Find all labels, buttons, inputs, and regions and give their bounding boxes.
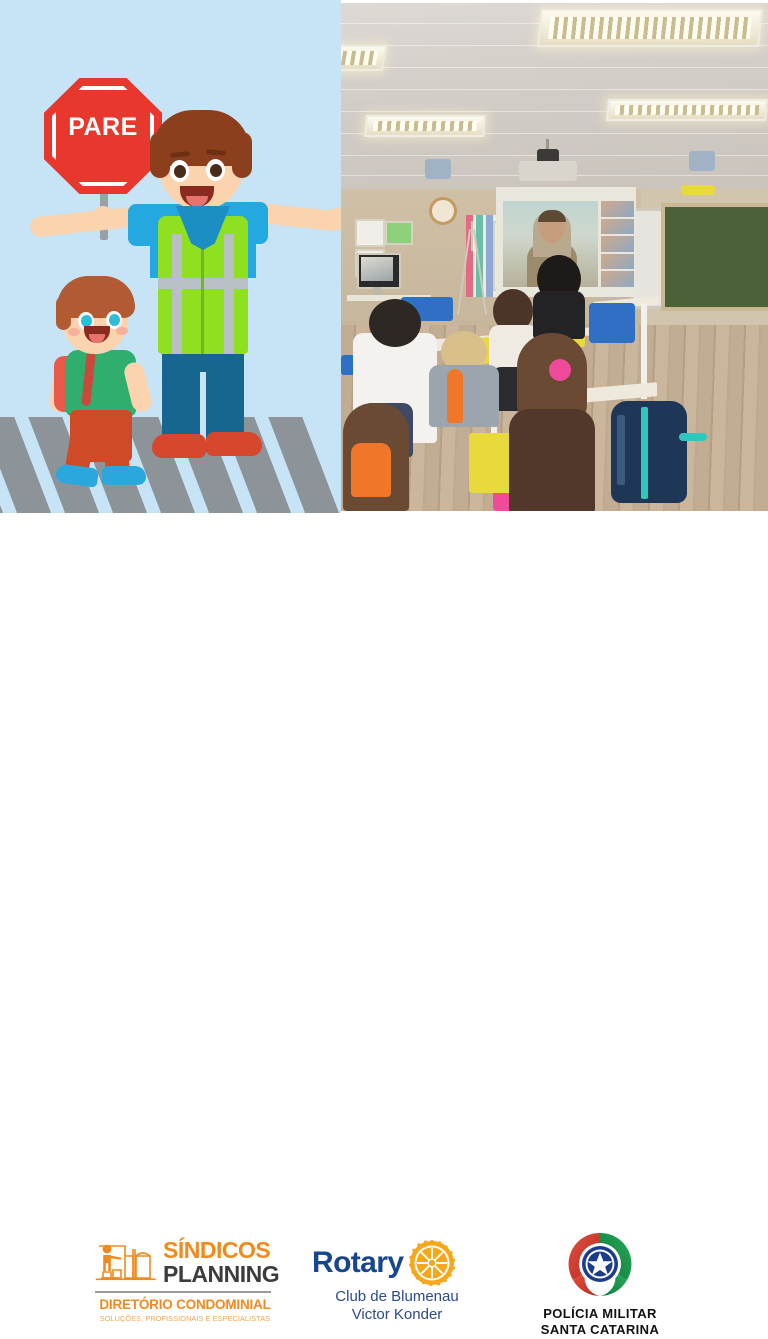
backpack-strap: [679, 433, 707, 441]
media-band: PARE: [0, 0, 768, 513]
guard-pupil-right: [210, 164, 222, 177]
pmsc-line-2: SANTA CATARINA: [530, 1322, 670, 1338]
student-vest-6: [351, 443, 391, 497]
thumbnail: [601, 254, 634, 270]
rotary-wordmark: Rotary: [312, 1246, 403, 1280]
sindicos-line-1: SÍNDICOS: [163, 1239, 279, 1262]
partner-logo-strip: SÍNDICOS PLANNING DIRETÓRIO CONDOMINIAL …: [0, 600, 768, 740]
vest-reflective-stripe-left: [172, 234, 182, 354]
guard-left-hand: [92, 206, 114, 228]
student-vest-stripe-4: [447, 369, 463, 423]
sindicos-planning-logo[interactable]: SÍNDICOS PLANNING DIRETÓRIO CONDOMINIAL …: [95, 1236, 275, 1323]
classroom-photograph: [341, 3, 768, 511]
ceiling-light-top-right: [537, 9, 763, 47]
sindicos-line-4: SOLUÇÕES, PROFISSIONAIS E ESPECIALISTAS: [95, 1314, 275, 1323]
pmsc-badge-icon: [561, 1228, 639, 1302]
student-hair-5: [509, 409, 595, 511]
child-cheek-right: [116, 327, 128, 335]
thumbnail: [601, 236, 634, 252]
page-root: PARE: [0, 0, 768, 768]
rotary-sub-line-2: Victor Konder: [312, 1306, 482, 1324]
vest-zipper: [201, 232, 204, 354]
child-right-shoe: [102, 466, 146, 485]
wall-speaker-right: [689, 151, 715, 171]
ceiling-light-mid-right: [606, 99, 768, 121]
student-hair-tie-5: [549, 359, 571, 381]
student-body-4: [429, 365, 499, 427]
tripod-column: [471, 221, 473, 251]
pmsc-line-1: POLÍCIA MILITAR: [530, 1306, 670, 1322]
guard-left-arm: [29, 206, 140, 237]
monitor-screen: [361, 257, 393, 281]
ceiling-projector: [519, 161, 577, 181]
sindicos-divider: [95, 1291, 271, 1293]
rotary-sub-line-1: Club de Blumenau: [312, 1288, 482, 1306]
greenboard: [661, 203, 768, 311]
wall-clock: [429, 197, 457, 225]
policia-militar-sc-logo[interactable]: POLÍCIA MILITAR SANTA CATARINA: [530, 1228, 670, 1339]
backpack-zip: [641, 407, 648, 499]
child-iris-right: [109, 314, 120, 326]
student-laptop: [589, 303, 635, 343]
rotary-wheel-icon: [409, 1240, 455, 1286]
backpack-side: [617, 415, 625, 485]
video-participant-thumbnails: [601, 201, 634, 287]
guard-left-shoe: [152, 434, 206, 458]
guard-right-hand: [326, 208, 341, 230]
sindicos-line-3: DIRETÓRIO CONDOMINIAL: [95, 1297, 275, 1312]
crossing-guard-illustration: PARE: [0, 0, 341, 513]
ceiling-light-mid-left: [364, 115, 486, 137]
guard-hair-side-left: [150, 132, 170, 178]
guard-hair-side-right: [232, 132, 252, 178]
student-head-1: [369, 299, 421, 347]
monitor-stand: [373, 287, 381, 295]
child-shirt: [66, 350, 136, 416]
thumbnail: [601, 219, 634, 235]
wall-poster-3: [385, 221, 413, 245]
ceiling-light-top-left: [341, 45, 387, 71]
child-hair-side: [56, 296, 71, 330]
child-cheek-left: [68, 328, 80, 336]
wall-speaker-left: [425, 159, 451, 179]
guard-pupil-left: [174, 165, 186, 178]
rotary-club-logo[interactable]: Rotary: [312, 1240, 502, 1325]
student-body-3: [533, 291, 585, 339]
stop-sign-label: PARE: [44, 113, 162, 142]
wall-poster-1: [355, 219, 385, 247]
guard-right-shoe: [206, 432, 262, 456]
thumbnail: [601, 201, 634, 217]
sindicos-building-icon: [95, 1236, 157, 1288]
pmsc-text: POLÍCIA MILITAR SANTA CATARINA: [530, 1306, 670, 1339]
vest-reflective-stripe-right: [224, 234, 234, 354]
chair-yellow-4: [681, 185, 715, 195]
sindicos-line-2: PLANNING: [163, 1263, 279, 1286]
thumbnail: [601, 271, 634, 287]
